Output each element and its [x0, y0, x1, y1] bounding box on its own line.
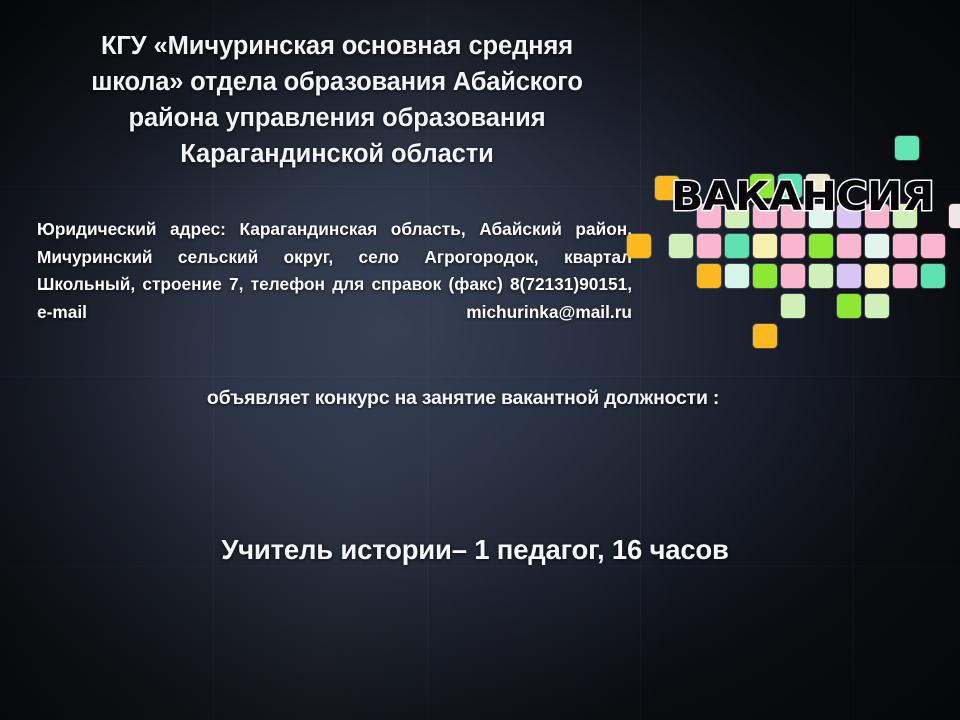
mosaic-tile	[781, 294, 805, 318]
mosaic-tile	[725, 234, 749, 258]
mosaic-tile	[809, 264, 833, 288]
mosaic-tile	[893, 264, 917, 288]
title-line-2: школа» отдела образования Абайского	[34, 64, 640, 100]
mosaic-tile	[697, 264, 721, 288]
mosaic-tile	[895, 136, 919, 160]
mosaic-tile	[921, 234, 945, 258]
legal-address-block: Юридический адрес: Карагандинская област…	[37, 216, 632, 354]
mosaic-tile	[753, 264, 777, 288]
mosaic-tile	[837, 264, 861, 288]
mosaic-tile	[865, 264, 889, 288]
title-line-4: Карагандинской области	[34, 136, 640, 172]
mosaic-tile	[837, 234, 861, 258]
mosaic-tile	[921, 264, 945, 288]
mosaic-tile	[753, 324, 777, 348]
legal-address-text: Юридический адрес: Карагандинская област…	[37, 216, 632, 354]
title-line-1: КГУ «Мичуринская основная средняя	[34, 28, 640, 64]
slide-canvas: КГУ «Мичуринская основная средняя школа»…	[0, 0, 960, 720]
mosaic-tile	[753, 234, 777, 258]
mosaic-tile	[781, 264, 805, 288]
announcement-text: объявляет конкурс на занятие вакантной д…	[0, 387, 926, 410]
mosaic-tile	[809, 234, 833, 258]
title-line-3: района управления образования	[34, 100, 640, 136]
mosaic-tile	[893, 234, 917, 258]
mosaic-tile	[725, 264, 749, 288]
vacancy-badge: ВАКАНСИЯ	[645, 116, 960, 301]
mosaic-tile	[669, 234, 693, 258]
mosaic-tile	[627, 234, 651, 258]
mosaic-tile	[781, 234, 805, 258]
mosaic-tile	[697, 234, 721, 258]
page-title: КГУ «Мичуринская основная средняя школа»…	[34, 28, 640, 172]
mosaic-tile	[865, 234, 889, 258]
mosaic-tile	[865, 294, 889, 318]
mosaic-tile	[837, 294, 861, 318]
badge-word-vakansiya: ВАКАНСИЯ	[636, 174, 960, 220]
vacancy-text: Учитель истории– 1 педагог, 16 часов	[0, 534, 950, 566]
